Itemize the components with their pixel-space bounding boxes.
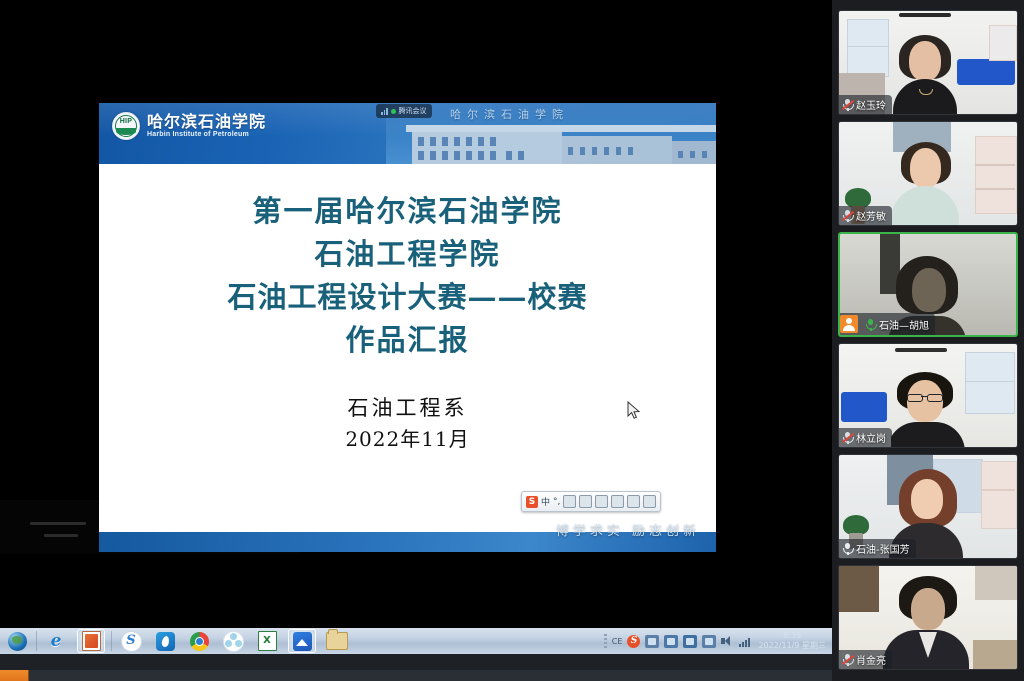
participant-name: 石油—胡旭 [879,317,929,332]
participant-name: 赵芳敏 [856,208,886,223]
keyboard-icon[interactable] [595,495,608,508]
taskbar-powerpoint-icon[interactable] [77,629,105,653]
clock-time: 8:39 [783,631,801,640]
ime-icon[interactable] [702,635,716,648]
tray-ce-label: CE [612,637,623,646]
taskbar-internet-explorer-icon[interactable]: e [43,630,69,652]
screen-icon[interactable] [645,635,659,648]
tencent-meeting-watermark: 腾讯会议 [376,104,432,118]
hip-seal-icon: HIP [112,112,140,140]
participant-tile[interactable]: 赵玉玲 [838,10,1018,115]
toolbox-icon[interactable] [627,495,640,508]
slide-date: 2022年11月 [99,423,716,452]
network-icon[interactable] [664,635,678,648]
participant-name: 林立岗 [856,430,886,445]
taskbar-blue-app-icon[interactable] [152,630,178,652]
slide-title-line-3: 石油工程设计大赛——校赛 [99,274,716,316]
participant-name: 赵玉玲 [856,97,886,112]
sogou-icon[interactable]: S [526,496,538,508]
participant-name: 肖金亮 [856,652,886,667]
emoji-icon[interactable] [563,495,576,508]
participant-tile[interactable]: 赵芳敏 [838,121,1018,226]
participant-filmstrip: 赵玉玲 赵芳敏 [832,0,1024,681]
slide-title-line-2: 石油工程学院 [99,231,716,273]
signal-bars-icon [381,108,388,115]
participant-name: 石油-张国芳 [856,541,910,556]
sogou-ime-toolbar[interactable]: S 中 °, [521,491,661,512]
participant-tile[interactable]: 林立岗 [838,343,1018,448]
sogou-tray-icon[interactable]: S [627,635,640,648]
clock[interactable]: 8:39 2022/11/9 星期三 [755,631,826,651]
taskbar-folder-icon[interactable] [324,630,350,652]
sync-icon[interactable] [683,635,697,648]
mic-icon [842,542,853,555]
mic-on-icon [865,318,876,331]
school-logo: HIP 哈尔滨石油学院 Harbin Institute of Petroleu… [112,112,266,140]
watermark-label: 腾讯会议 [399,106,427,116]
slide-footer: 博学求实 励志创新 [99,532,716,552]
participant-tile-active[interactable]: 石油—胡旭 [838,232,1018,337]
slide-body: 第一届哈尔滨石油学院 石油工程学院 石油工程设计大赛——校赛 作品汇报 石油工程… [99,164,716,532]
participant-nameplate: 赵芳敏 [839,206,892,225]
bottom-dark-line [28,670,832,681]
participant-tile[interactable]: 肖金亮 [838,565,1018,670]
school-name-cn: 哈尔滨石油学院 [147,114,266,131]
slide-motto: 博学求实 励志创新 [556,520,700,539]
tray-grip-icon[interactable] [604,634,607,648]
mic-muted-icon [842,653,853,666]
screen-root: 哈尔滨石油学院 [0,0,1024,681]
mic-muted-icon [842,98,853,111]
participant-nameplate: 石油—胡旭 [840,313,935,335]
taskbar-tencent-meeting-icon[interactable] [288,629,316,653]
taskbar-sogou-browser-icon[interactable]: S [118,630,144,652]
punctuation-icon[interactable]: °, [553,497,560,507]
status-dot-icon [391,109,396,114]
participant-nameplate: 石油-张国芳 [839,539,916,558]
taskbar-globe-browser-icon[interactable] [4,630,30,652]
system-tray[interactable]: CE S 8:39 2022/11/9 星期三 [604,628,832,654]
signal-icon[interactable] [739,636,750,647]
seal-initials: HIP [113,118,139,125]
shared-screen-area: 哈尔滨石油学院 [0,0,832,681]
mic-muted-icon [842,209,853,222]
clock-date: 2022/11/9 星期三 [758,641,826,650]
windows-taskbar[interactable]: e S X CE S [0,628,832,654]
mouse-cursor [627,401,641,421]
slide-department: 石油工程系 [99,392,716,422]
taskbar-excel-icon[interactable]: X [254,630,280,652]
translate-icon[interactable] [611,495,624,508]
slide-header: 哈尔滨石油学院 [99,103,716,164]
ime-mode-label[interactable]: 中 [541,495,550,508]
taskbar-flower-app-icon[interactable] [220,630,246,652]
school-name-en: Harbin Institute of Petroleum [147,131,266,138]
mic-muted-icon [842,431,853,444]
taskbar-chrome-icon[interactable] [186,630,212,652]
volume-icon[interactable] [721,635,734,647]
avatar-badge-icon [840,315,858,333]
voice-icon[interactable] [579,495,592,508]
settings-icon[interactable] [643,495,656,508]
presentation-slide: 哈尔滨石油学院 [99,103,716,552]
participant-tile[interactable]: 石油-张国芳 [838,454,1018,559]
slide-title-line-4: 作品汇报 [99,317,716,359]
orange-indicator-bar [0,670,29,681]
participant-nameplate: 林立岗 [839,428,892,447]
slide-title-line-1: 第一届哈尔滨石油学院 [99,188,716,230]
participant-nameplate: 肖金亮 [839,650,892,669]
participant-nameplate: 赵玉玲 [839,95,892,114]
